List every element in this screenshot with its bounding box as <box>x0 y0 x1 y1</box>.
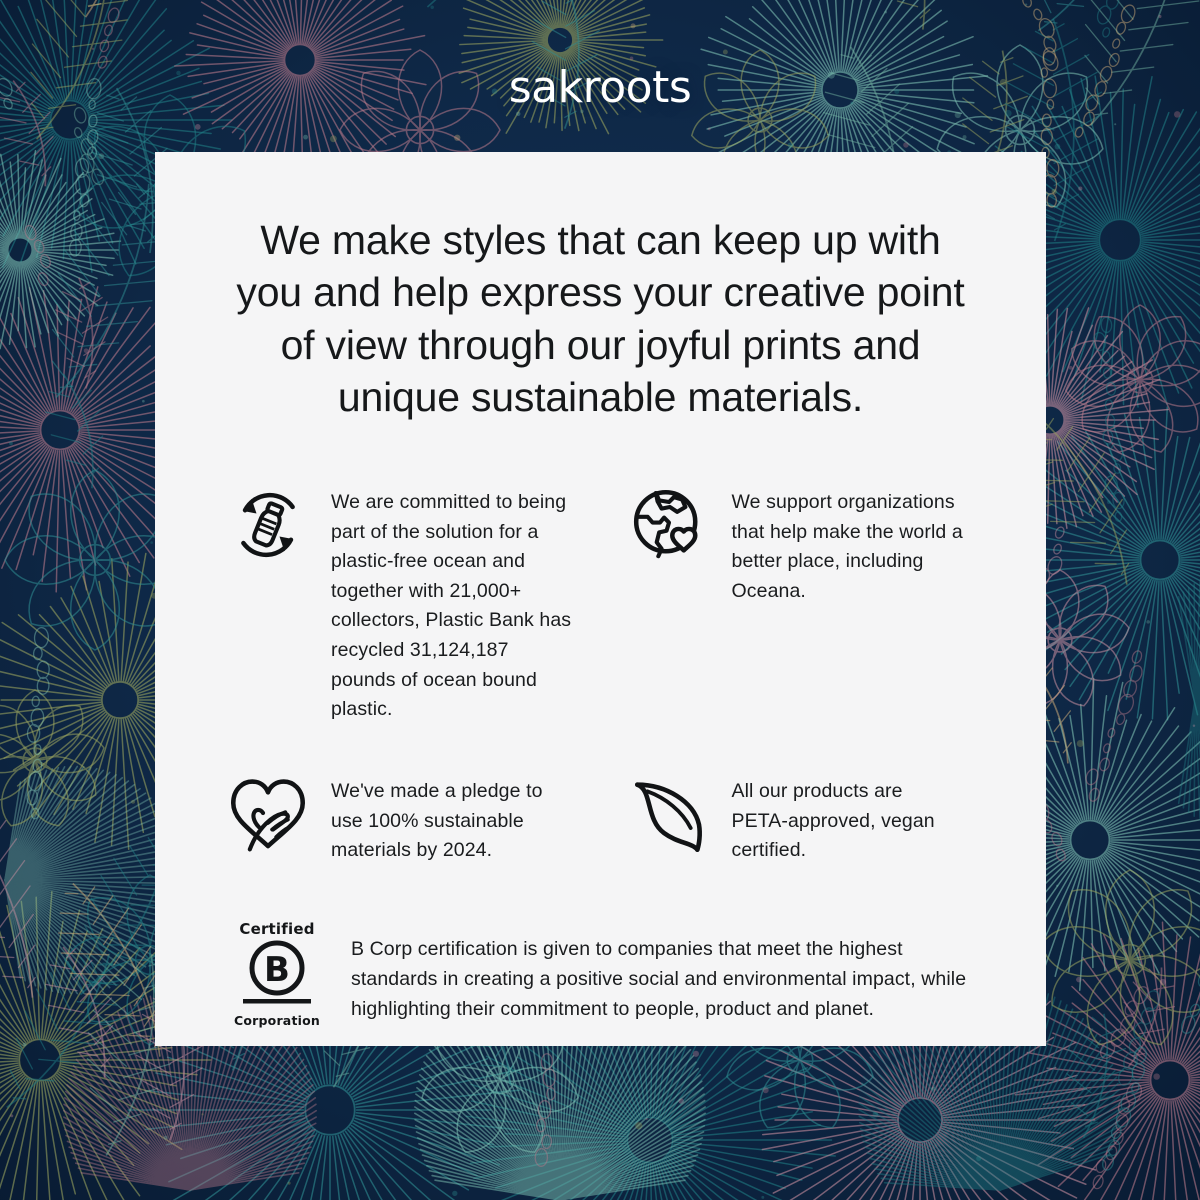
heart-hand-icon <box>225 771 311 857</box>
brand-logo: sakroots <box>0 62 1200 113</box>
feature-text: We are committed to being part of the so… <box>331 482 578 725</box>
recycle-bottle-icon <box>225 482 311 568</box>
feature-oceana-support: We support organizations that help make … <box>626 482 979 725</box>
bcorp-description: B Corp certification is given to compani… <box>351 918 978 1025</box>
feature-grid: We are committed to being part of the so… <box>211 482 990 866</box>
feature-text: We've made a pledge to use 100% sustaina… <box>331 771 578 866</box>
bcorp-certification-logo: Certified B Corporation <box>225 918 329 1028</box>
globe-heart-icon <box>626 482 712 568</box>
feature-text: All our products are PETA-approved, vega… <box>732 771 964 866</box>
bcorp-top-label: Certified <box>239 920 314 938</box>
svg-text:B: B <box>264 950 290 990</box>
feature-peta-vegan: All our products are PETA-approved, vega… <box>626 771 979 866</box>
feature-text: We support organizations that help make … <box>732 482 964 607</box>
feature-plastic-bank: We are committed to being part of the so… <box>225 482 578 725</box>
bcorp-b-mark: B <box>234 938 320 1010</box>
page-headline: We make styles that can keep up with you… <box>211 200 990 424</box>
bcorp-row: Certified B Corporation B Corp certifica… <box>211 918 990 1028</box>
bcorp-bottom-label: Corporation <box>234 1013 320 1028</box>
info-card: We make styles that can keep up with you… <box>155 152 1046 1046</box>
feature-sustainable-pledge: We've made a pledge to use 100% sustaina… <box>225 771 578 866</box>
leaf-icon <box>626 771 712 857</box>
